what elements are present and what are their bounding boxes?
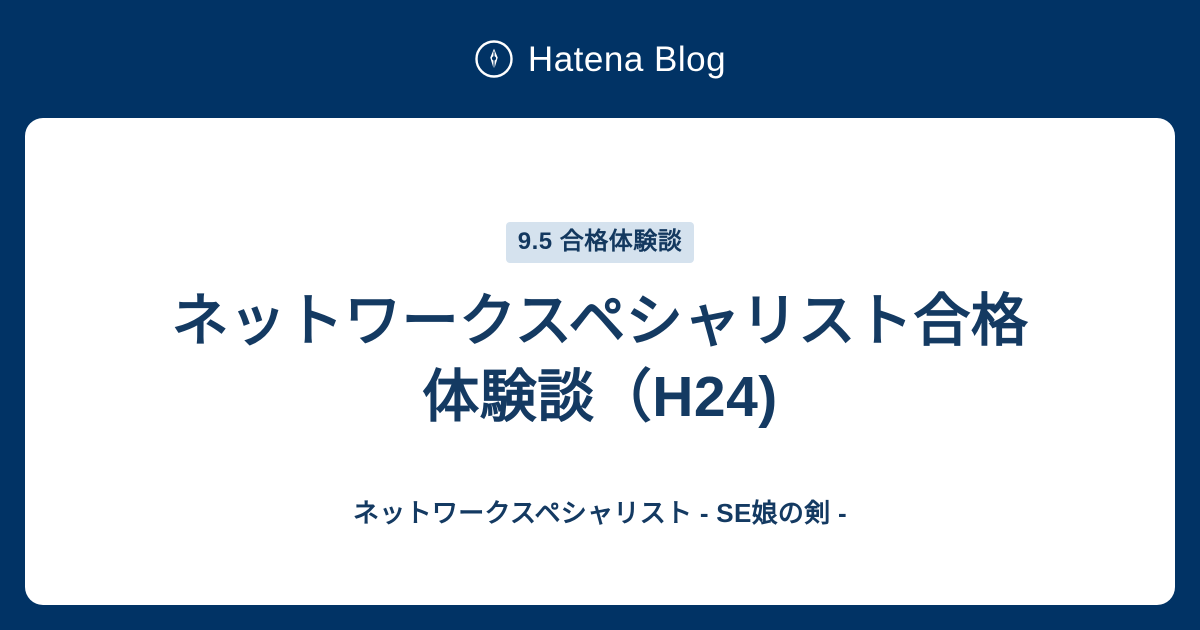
pen-nib-in-circle-icon <box>474 39 514 79</box>
blog-title[interactable]: ネットワークスペシャリスト - SE娘の剣 - <box>353 497 847 531</box>
entry-title: ネットワークスペシャリスト合格体験談（H24) <box>150 283 1050 435</box>
category-badge[interactable]: 9.5 合格体験談 <box>506 222 695 263</box>
entry-card: 9.5 合格体験談 ネットワークスペシャリスト合格体験談（H24) ネットワーク… <box>25 118 1175 605</box>
hatena-blog-wordmark: Hatena Blog <box>528 42 726 77</box>
hatena-blog-header: Hatena Blog <box>0 0 1200 118</box>
